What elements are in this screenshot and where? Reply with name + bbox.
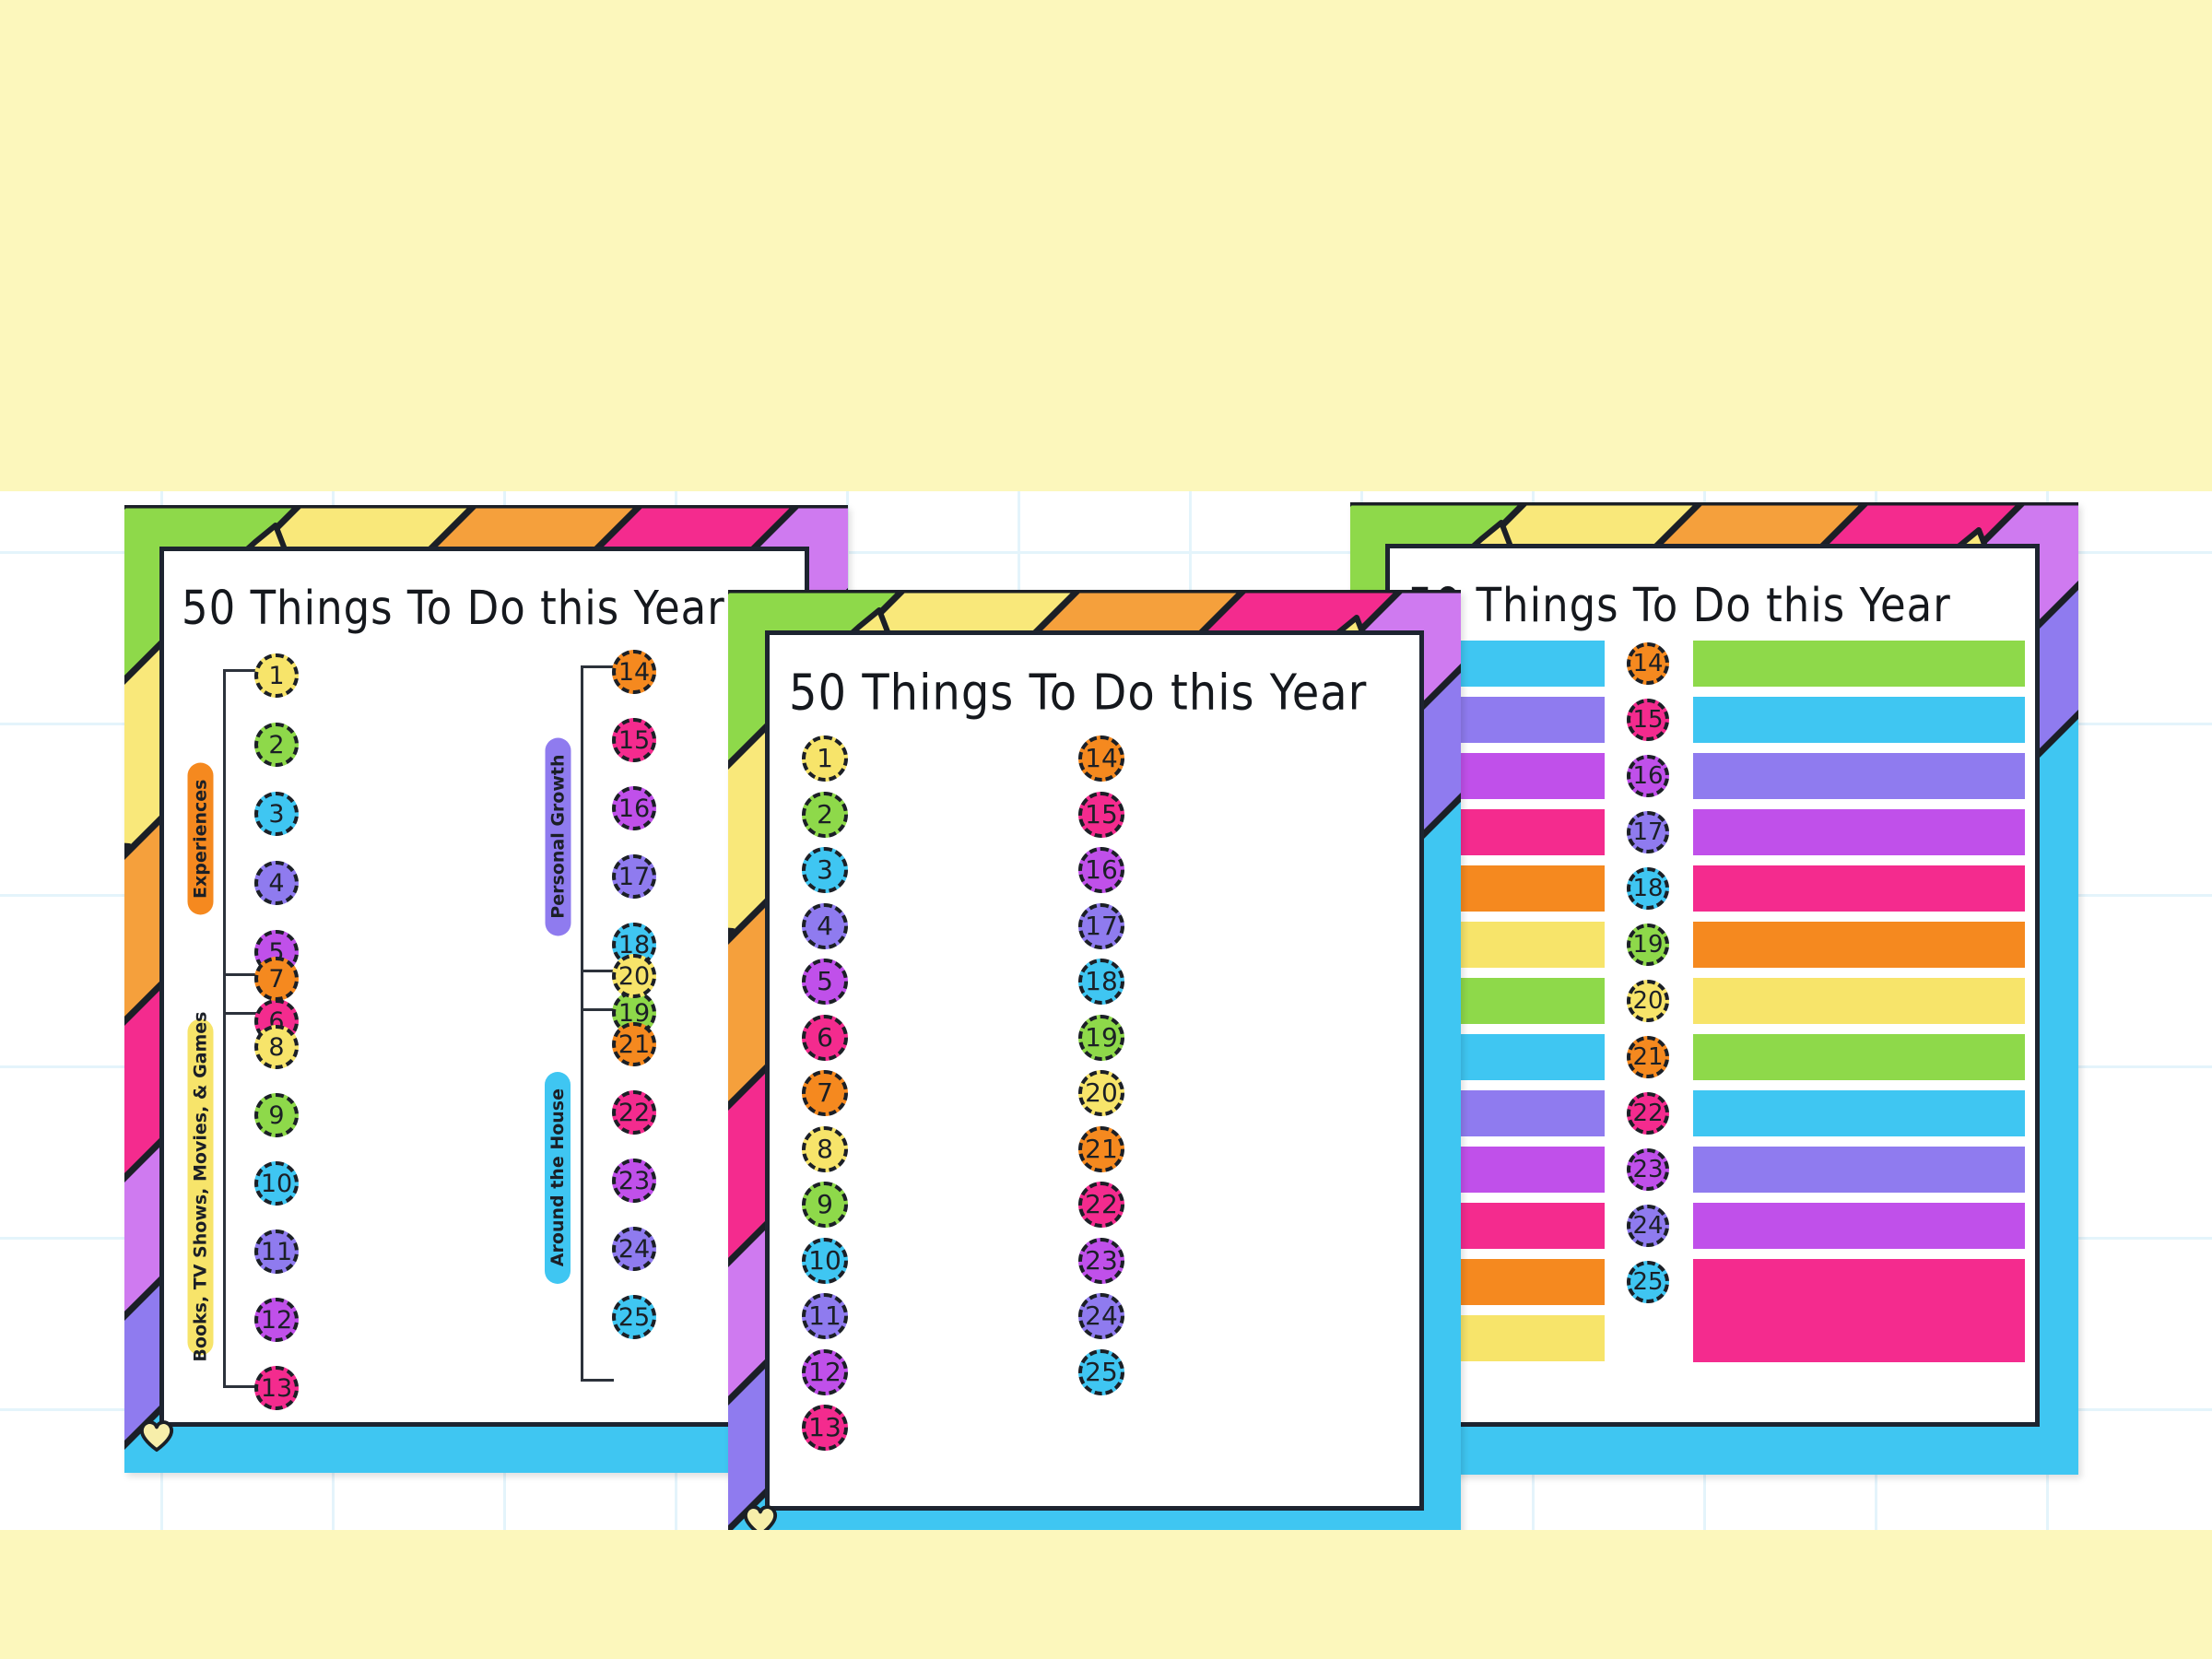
card-title-left: 50 Things To Do this Year	[182, 581, 725, 635]
number-bubble-13[interactable]: 13	[254, 1366, 299, 1410]
number-bubble-8[interactable]: 8	[254, 1025, 299, 1069]
number-bubble-11[interactable]: 11	[254, 1230, 299, 1274]
number-bubble-7[interactable]: 7	[802, 1070, 848, 1116]
number-bubble-6[interactable]: 6	[802, 1015, 848, 1061]
answer-bar-20[interactable]	[1693, 978, 2025, 1024]
number-bubble-20[interactable]: 20	[1627, 980, 1669, 1022]
number-bubble-4[interactable]: 4	[254, 861, 299, 905]
number-bubble-10[interactable]: 10	[802, 1238, 848, 1284]
number-bubble-11[interactable]: 11	[802, 1293, 848, 1339]
number-bubble-21[interactable]: 21	[1078, 1126, 1124, 1172]
number-bubble-17[interactable]: 17	[612, 854, 656, 899]
number-bubble-17[interactable]: 17	[1627, 811, 1669, 853]
number-bubble-1[interactable]: 1	[802, 735, 848, 782]
number-bubble-15[interactable]: 15	[612, 718, 656, 762]
number-bubble-12[interactable]: 12	[802, 1349, 848, 1395]
number-bubble-16[interactable]: 16	[1078, 847, 1124, 893]
answer-bar-15[interactable]	[1693, 697, 2025, 743]
number-bubble-14[interactable]: 14	[1078, 735, 1124, 782]
number-bubble-3[interactable]: 3	[802, 847, 848, 893]
answer-bar-19[interactable]	[1693, 922, 2025, 968]
number-bubble-16[interactable]: 16	[1627, 755, 1669, 797]
number-bubble-15[interactable]: 15	[1078, 792, 1124, 838]
bottom-banner	[0, 1530, 2212, 1659]
number-bubble-23[interactable]: 23	[612, 1159, 656, 1203]
number-bubble-2[interactable]: 2	[254, 723, 299, 767]
category-pill-experiences-label: Experiences	[190, 779, 210, 898]
number-bubble-23[interactable]: 23	[1627, 1148, 1669, 1191]
number-bubble-5[interactable]: 5	[802, 959, 848, 1005]
category-pill-personal-growth-label: Personal Growth	[547, 755, 568, 919]
number-bubble-9[interactable]: 9	[254, 1093, 299, 1137]
bracket-personal-growth	[581, 665, 614, 1011]
bracket-around-the-house	[581, 970, 614, 1382]
bracket-books-tv-movies-games	[223, 973, 256, 1388]
number-bubble-19[interactable]: 19	[1627, 924, 1669, 966]
top-banner	[0, 0, 2212, 491]
number-bubble-24[interactable]: 24	[1627, 1205, 1669, 1247]
number-bubble-21[interactable]: 21	[1627, 1036, 1669, 1078]
number-bubble-22[interactable]: 22	[612, 1090, 656, 1135]
answer-bar-18[interactable]	[1693, 865, 2025, 912]
heart-icon	[137, 1418, 176, 1453]
number-bubble-14[interactable]: 14	[1627, 642, 1669, 685]
category-pill-personal-growth: Personal Growth	[545, 738, 571, 936]
number-bubble-16[interactable]: 16	[612, 786, 656, 830]
category-pill-around-the-house: Around the House	[545, 1072, 571, 1284]
answer-bar-23[interactable]	[1693, 1147, 2025, 1193]
number-bubble-25[interactable]: 25	[1627, 1261, 1669, 1303]
number-bubble-21[interactable]: 21	[612, 1022, 656, 1066]
number-bubble-18[interactable]: 18	[1078, 959, 1124, 1005]
number-bubble-3[interactable]: 3	[254, 792, 299, 836]
number-bubble-25[interactable]: 25	[612, 1295, 656, 1339]
number-bubble-20[interactable]: 20	[612, 954, 656, 998]
number-bubble-4[interactable]: 4	[802, 903, 848, 949]
category-pill-books-tv-movies-games: Books, TV Shows, Movies, & Games	[187, 1019, 213, 1356]
answer-bar-25[interactable]	[1693, 1259, 2025, 1362]
answer-bar-14[interactable]	[1693, 641, 2025, 687]
card-title-middle: 50 Things To Do this Year	[789, 664, 1367, 722]
number-bubble-24[interactable]: 24	[1078, 1293, 1124, 1339]
answer-bar-16[interactable]	[1693, 753, 2025, 799]
category-pill-books-tv-movies-games-label: Books, TV Shows, Movies, & Games	[190, 1012, 210, 1362]
number-bubble-8[interactable]: 8	[802, 1126, 848, 1172]
poster-canvas: 50 Things To Do this Year 12345678910111…	[0, 0, 2212, 1659]
number-bubble-10[interactable]: 10	[254, 1161, 299, 1206]
printable-card-middle[interactable]: 50 Things To Do this Year 12345678910111…	[728, 590, 1461, 1553]
number-bubble-12[interactable]: 12	[254, 1298, 299, 1342]
number-bubble-15[interactable]: 15	[1627, 699, 1669, 741]
number-bubble-18[interactable]: 18	[1627, 867, 1669, 910]
answer-bar-21[interactable]	[1693, 1034, 2025, 1080]
card-title-right: 50 Things To Do this Year	[1407, 578, 1951, 632]
answer-bar-17[interactable]	[1693, 809, 2025, 855]
number-bubble-24[interactable]: 24	[612, 1227, 656, 1271]
bracket-experiences	[223, 669, 256, 1015]
number-bubble-17[interactable]: 17	[1078, 903, 1124, 949]
number-bubble-23[interactable]: 23	[1078, 1238, 1124, 1284]
number-bubble-19[interactable]: 19	[1078, 1015, 1124, 1061]
number-bubble-20[interactable]: 20	[1078, 1070, 1124, 1116]
number-bubble-22[interactable]: 22	[1627, 1092, 1669, 1135]
number-bubble-9[interactable]: 9	[802, 1182, 848, 1228]
number-bubble-25[interactable]: 25	[1078, 1349, 1124, 1395]
number-bubble-1[interactable]: 1	[254, 653, 299, 698]
number-bubble-7[interactable]: 7	[254, 957, 299, 1001]
number-bubble-14[interactable]: 14	[612, 650, 656, 694]
number-bubble-2[interactable]: 2	[802, 792, 848, 838]
category-pill-around-the-house-label: Around the House	[547, 1088, 568, 1266]
answer-bar-24[interactable]	[1693, 1203, 2025, 1249]
number-bubble-13[interactable]: 13	[802, 1405, 848, 1451]
answer-bar-22[interactable]	[1693, 1090, 2025, 1136]
number-bubble-22[interactable]: 22	[1078, 1182, 1124, 1228]
category-pill-experiences: Experiences	[187, 763, 213, 915]
